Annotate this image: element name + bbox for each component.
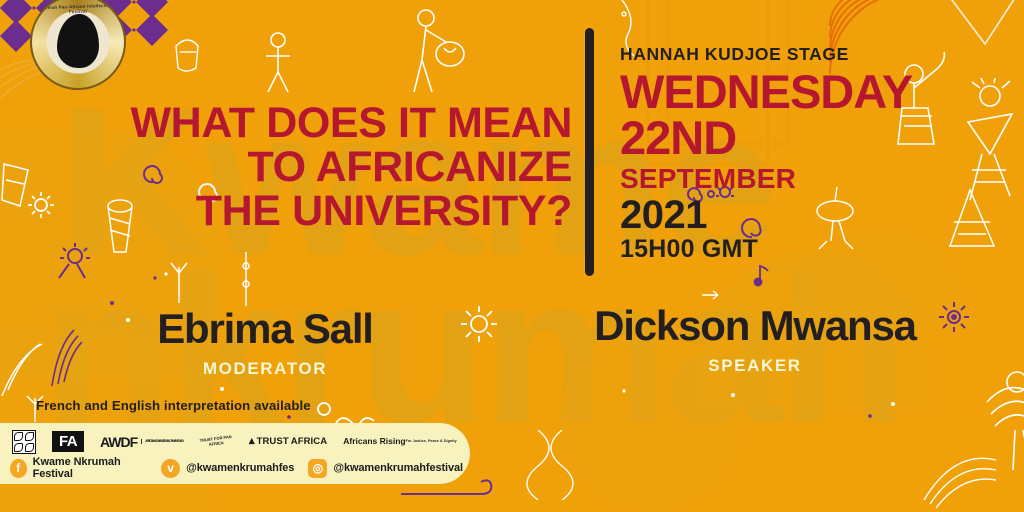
sponsor-awdf-logo: AWDF AFRICAN WOMEN'S DEVELOPMENT FUND [100,434,183,450]
facebook-handle: Kwame Nkrumah Festival [33,456,148,480]
social-links: f Kwame Nkrumah Festival ᴠ @kwamenkrumah… [10,457,470,479]
music-note-icon [752,262,772,288]
bird-icon: ▴ [249,436,255,447]
title-line-3: THE UNIVERSITY? [92,190,572,234]
event-day-name: WEDNESDAY [620,69,912,115]
speaker-role: SPEAKER [520,356,990,376]
speaker-name: Dickson Mwansa [520,305,990,347]
event-year: 2021 [620,195,912,236]
bird-glyph-icon [700,288,726,300]
sponsor-adinkra-mark [12,430,36,454]
sun-adinkra-icon [26,190,56,220]
event-month: SEPTEMBER [620,163,912,195]
staff-art-icon [235,250,257,310]
figure-art-icon [960,78,1024,218]
moderator-name: Ebrima Sall [60,308,470,350]
instagram-icon[interactable]: ◎ [308,459,327,478]
ring-art-icon [310,398,340,420]
venue-label: HANNAH KUDJOE STAGE [620,44,912,65]
title-line-2: TO AFRICANIZE [92,146,572,190]
trustafrica-word-2: AFRICA [291,436,328,447]
social-instagram[interactable]: ◎ @kwamenkrumahfestival [308,459,463,478]
sponsor-logos: FA AWDF AFRICAN WOMEN'S DEVELOPMENT FUND… [12,429,457,454]
footer-bar: FA AWDF AFRICAN WOMEN'S DEVELOPMENT FUND… [0,423,470,484]
adinkra-mark-icon [12,430,36,454]
facebook-icon[interactable]: f [10,459,27,478]
fish-art-icon [920,430,1000,510]
nkrumah-silhouette-icon [57,14,99,68]
title-line-1: WHAT DOES IT MEAN [92,102,572,146]
awdf-subtitle: AFRICAN WOMEN'S DEVELOPMENT FUND [141,439,183,443]
figure-art-icon [0,160,40,220]
sponsor-fa-logo: FA [52,431,84,452]
africans-rising-tagline: For Justice, Peace & Dignity [406,439,457,443]
event-time: 15H00 GMT [620,236,912,264]
trustafrica-word-1: TRUST [257,436,289,447]
figure-art-icon [940,150,1020,250]
moderator-block: Ebrima Sall MODERATOR [60,308,470,379]
awdf-wordmark: AWDF [100,434,137,450]
sponsor-trustafrica-logo: ▴ TRUSTAFRICA [249,436,327,447]
africans-rising-wordmark: Africans Rising [343,437,405,446]
dna-art-icon [520,430,580,500]
branch-art-icon [165,255,195,305]
sun-adinkra-icon [55,240,95,280]
logo-caption: Kwame Nkrumah Pan-African Intellectual &… [32,2,124,16]
figure-art-icon [250,28,310,98]
social-twitter[interactable]: ᴠ @kwamenkrumahfes [161,459,294,478]
event-details: HANNAH KUDJOE STAGE WEDNESDAY 22ND SEPTE… [620,44,912,264]
twitter-icon[interactable]: ᴠ [161,459,180,478]
sponsor-oxfam-logo: TRUST FOR PAN AFRICA [199,435,234,448]
moderator-role: MODERATOR [60,359,470,379]
event-poster: Kwame nkrumah [0,0,1024,512]
twitter-handle: @kwamenkrumahfes [186,462,294,474]
event-day-number: 22ND [620,115,912,161]
social-facebook[interactable]: f Kwame Nkrumah Festival [10,456,147,480]
figure-art-icon [985,360,1024,480]
interpretation-note: French and English interpretation availa… [36,398,311,413]
drummer-art-icon [400,8,480,98]
poster-title: WHAT DOES IT MEAN TO AFRICANIZE THE UNIV… [92,102,572,234]
kwame-nkrumah-festival-logo: Kwame Nkrumah Pan-African Intellectual &… [32,0,124,88]
figure-art-icon [0,330,46,400]
pot-art-icon [170,30,204,76]
speaker-block: Dickson Mwansa SPEAKER [520,305,990,376]
vertical-divider [585,28,594,276]
instagram-handle: @kwamenkrumahfestival [333,462,463,474]
sponsor-africans-rising-logo: Africans Rising For Justice, Peace & Dig… [343,437,457,446]
